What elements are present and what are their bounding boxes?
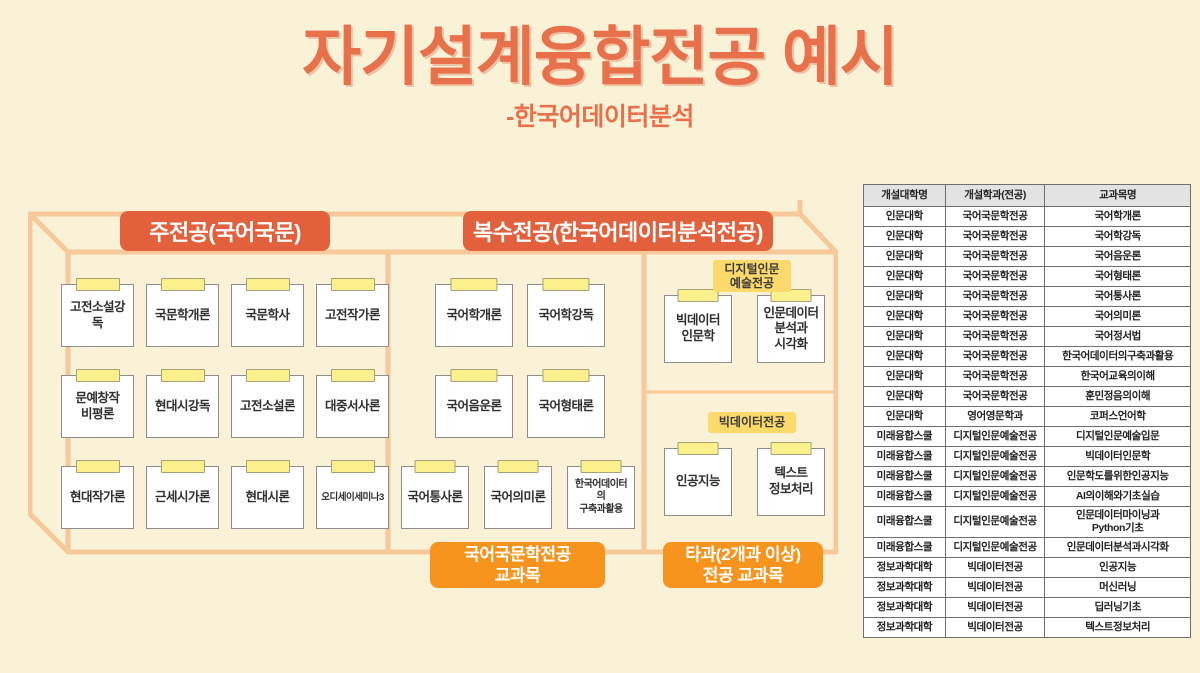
table-row: 인문대학국어국문학전공국어형태론 [864,267,1191,287]
table-cell: 인문대학 [864,347,946,367]
table-cell: 미래융합스쿨 [864,427,946,447]
card-label: 빅데이터인문학 [673,313,723,344]
table-cell: 코퍼스언어학 [1045,407,1191,427]
course-table: 개설대학명개설학과(전공)교과목명 인문대학국어국문학전공국어학개론인문대학국어… [863,184,1191,638]
card-tab-icon [245,278,289,291]
table-cell: 훈민정음의이해 [1045,387,1191,407]
course-card-korean-6[interactable]: 국어의미론 [484,466,552,529]
table-cell: 정보과학대학 [864,577,946,597]
table-cell: 국어국문학전공 [945,307,1045,327]
table-row: 정보과학대학빅데이터전공딥러닝기초 [864,597,1191,617]
card-tab-icon [330,369,374,382]
table-cell: 디지털인문예술전공 [945,427,1045,447]
card-label: 국어형태론 [535,399,596,415]
table-cell: 한국어데이터의구축과활용 [1045,347,1191,367]
card-tab-icon [160,278,204,291]
table-cell: 국어음운론 [1045,247,1191,267]
card-tab-icon [450,278,497,291]
table-col-header-3: 교과목명 [1045,185,1191,207]
card-tab-icon [245,369,289,382]
table-cell: 인문대학 [864,247,946,267]
table-cell: 빅데이터인문학 [1045,447,1191,467]
table-cell: 인문대학 [864,387,946,407]
table-cell: 머신러닝 [1045,577,1191,597]
table-row: 정보과학대학빅데이터전공인공지능 [864,557,1191,577]
table-cell: 딥러닝기초 [1045,597,1191,617]
card-tab-icon [75,460,119,473]
table-cell: 인문대학 [864,367,946,387]
course-card-korean-3[interactable]: 국어음운론 [435,375,513,438]
card-label: 현대작가론 [67,490,128,506]
course-card-main-12[interactable]: 오디세이세미나3 [316,466,389,529]
course-card-digital-1[interactable]: 빅데이터인문학 [664,295,732,363]
card-tab-icon [498,460,539,473]
section-header-double-major: 복수전공(한국어데이터분석전공) [463,211,773,251]
title-block: 자기설계융합전공 예시 -한국어데이터분석 [0,24,1200,133]
table-cell: 국어국문학전공 [945,267,1045,287]
table-cell: 인문대학 [864,287,946,307]
table-row: 정보과학대학빅데이터전공텍스트정보처리 [864,617,1191,637]
table-cell: 국어국문학전공 [945,227,1045,247]
card-tab-icon [678,442,719,455]
course-card-main-11[interactable]: 현대시론 [231,466,304,529]
card-label: 국어학개론 [443,308,504,324]
card-label: 현대시론 [242,490,292,506]
table-row: 미래융합스쿨디지털인문예술전공AI의이해와기초실습 [864,487,1191,507]
table-cell: 인문대학 [864,227,946,247]
card-label: 텍스트정보처리 [766,466,816,497]
course-card-main-5[interactable]: 문예창작비평론 [61,375,134,438]
card-tab-icon [581,460,622,473]
table-col-header-2: 개설학과(전공) [945,185,1045,207]
table-row: 인문대학국어국문학전공국어학강독 [864,227,1191,247]
course-card-main-4[interactable]: 고전작가론 [316,284,389,347]
table-row: 인문대학국어국문학전공국어학개론 [864,207,1191,227]
card-label: 고전소설론 [237,399,298,415]
card-label: 현대시강독 [152,399,213,415]
course-table-wrapper: 개설대학명개설학과(전공)교과목명 인문대학국어국문학전공국어학개론인문대학국어… [863,184,1191,638]
course-card-main-10[interactable]: 근세시가론 [146,466,219,529]
table-cell: 국어의미론 [1045,307,1191,327]
table-cell: 인문대학 [864,207,946,227]
table-row: 미래융합스쿨디지털인문예술전공인문데이터마이닝과Python기초 [864,507,1191,538]
table-cell: 정보과학대학 [864,557,946,577]
table-row: 미래융합스쿨디지털인문예술전공인문데이터분석과시각화 [864,537,1191,557]
course-card-main-3[interactable]: 국문학사 [231,284,304,347]
course-card-main-1[interactable]: 고전소설강독 [61,284,134,347]
table-cell: 인문대학 [864,327,946,347]
diagram-root: 자기설계융합전공 예시 -한국어데이터분석 주전공(국어국문) 복수전공(한국어… [0,0,1200,673]
table-cell: 국어형태론 [1045,267,1191,287]
table-cell: 미래융합스쿨 [864,487,946,507]
table-cell: 영어영문학과 [945,407,1045,427]
table-row: 인문대학국어국문학전공한국어교육의이해 [864,367,1191,387]
course-card-main-8[interactable]: 대중서사론 [316,375,389,438]
table-cell: 국어학강독 [1045,227,1191,247]
card-tab-icon [330,278,374,291]
subgroup-label-digital-humanities: 디지털인문예술전공 [713,260,791,292]
course-table-head: 개설대학명개설학과(전공)교과목명 [864,185,1191,207]
table-cell: 디지털인문예술전공 [945,487,1045,507]
course-card-korean-2[interactable]: 국어학강독 [527,284,605,347]
table-cell: 빅데이터전공 [945,557,1045,577]
table-row: 인문대학국어국문학전공한국어데이터의구축과활용 [864,347,1191,367]
table-cell: 미래융합스쿨 [864,507,946,538]
card-tab-icon [75,369,119,382]
card-tab-icon [678,289,719,302]
table-row: 인문대학국어국문학전공국어통사론 [864,287,1191,307]
card-tab-icon [542,278,589,291]
card-label: 고전소설강독 [62,300,133,331]
table-cell: 인문대학 [864,307,946,327]
table-col-header-1: 개설대학명 [864,185,946,207]
card-label: 고전작가론 [322,308,383,324]
table-cell: 인문대학 [864,267,946,287]
footer-label-other-major: 타과(2개과 이상)전공 교과목 [663,542,823,588]
subgroup-label-bigdata: 빅데이터전공 [708,412,796,433]
card-label: 국어음운론 [443,399,504,415]
table-cell: AI의이해와기초실습 [1045,487,1191,507]
table-cell: 국어국문학전공 [945,247,1045,267]
table-cell: 국어국문학전공 [945,387,1045,407]
table-cell: 국어국문학전공 [945,347,1045,367]
card-label: 국문학개론 [152,308,213,324]
page-subtitle: -한국어데이터분석 [0,97,1200,133]
card-label: 인공지능 [673,474,723,490]
card-tab-icon [415,460,456,473]
course-card-bigdata-2[interactable]: 텍스트정보처리 [757,448,825,516]
table-cell: 빅데이터전공 [945,577,1045,597]
card-label: 대중서사론 [322,399,383,415]
card-label: 문예창작비평론 [72,391,122,422]
footer-label-korean-major: 국어국문학전공교과목 [430,542,605,588]
table-cell: 디지털인문예술전공 [945,467,1045,487]
course-card-korean-7[interactable]: 한국어데이터의구축과활용 [567,466,635,529]
table-cell: 국어학개론 [1045,207,1191,227]
table-cell: 인문학도를위한인공지능 [1045,467,1191,487]
table-cell: 국어국문학전공 [945,207,1045,227]
section-header-main-major: 주전공(국어국문) [120,211,330,251]
course-table-body: 인문대학국어국문학전공국어학개론인문대학국어국문학전공국어학강독인문대학국어국문… [864,207,1191,638]
table-row: 인문대학국어국문학전공국어의미론 [864,307,1191,327]
table-cell: 한국어교육의이해 [1045,367,1191,387]
card-label: 인문데이터분석과시각화 [760,306,821,353]
course-card-korean-4[interactable]: 국어형태론 [527,375,605,438]
card-label: 국문학사 [242,308,292,324]
table-cell: 정보과학대학 [864,617,946,637]
course-card-main-7[interactable]: 고전소설론 [231,375,304,438]
table-cell: 인공지능 [1045,557,1191,577]
course-card-main-6[interactable]: 현대시강독 [146,375,219,438]
table-cell: 국어국문학전공 [945,367,1045,387]
table-cell: 텍스트정보처리 [1045,617,1191,637]
table-cell: 디지털인문예술입문 [1045,427,1191,447]
card-label: 국어통사론 [404,490,465,506]
table-cell: 국어통사론 [1045,287,1191,307]
table-row: 인문대학국어국문학전공국어음운론 [864,247,1191,267]
card-label: 국어의미론 [487,490,548,506]
page-title: 자기설계융합전공 예시 [0,24,1200,91]
card-tab-icon [542,369,589,382]
table-row: 미래융합스쿨디지털인문예술전공인문학도를위한인공지능 [864,467,1191,487]
table-cell: 국어국문학전공 [945,327,1045,347]
course-card-korean-1[interactable]: 국어학개론 [435,284,513,347]
course-card-korean-5[interactable]: 국어통사론 [401,466,469,529]
table-cell: 디지털인문예술전공 [945,537,1045,557]
table-cell: 인문데이터마이닝과Python기초 [1045,507,1191,538]
table-row: 인문대학영어영문학과코퍼스언어학 [864,407,1191,427]
card-tab-icon [160,369,204,382]
course-card-main-2[interactable]: 국문학개론 [146,284,219,347]
card-tab-icon [75,278,119,291]
course-card-digital-2[interactable]: 인문데이터분석과시각화 [757,295,825,363]
table-row: 미래융합스쿨디지털인문예술전공빅데이터인문학 [864,447,1191,467]
table-cell: 미래융합스쿨 [864,467,946,487]
table-cell: 정보과학대학 [864,597,946,617]
table-row: 인문대학국어국문학전공훈민정음의이해 [864,387,1191,407]
table-row: 정보과학대학빅데이터전공머신러닝 [864,577,1191,597]
card-tab-icon [771,442,812,455]
card-tab-icon [450,369,497,382]
card-label: 오디세이세미나3 [318,492,386,504]
table-cell: 미래융합스쿨 [864,537,946,557]
table-cell: 인문대학 [864,407,946,427]
card-label: 국어학강독 [535,308,596,324]
table-cell: 미래융합스쿨 [864,447,946,467]
table-cell: 빅데이터전공 [945,597,1045,617]
card-tab-icon [330,460,374,473]
table-cell: 국어정서법 [1045,327,1191,347]
card-label: 근세시가론 [152,490,213,506]
table-row: 미래융합스쿨디지털인문예술전공디지털인문예술입문 [864,427,1191,447]
course-card-main-9[interactable]: 현대작가론 [61,466,134,529]
table-cell: 디지털인문예술전공 [945,447,1045,467]
table-header-row: 개설대학명개설학과(전공)교과목명 [864,185,1191,207]
table-cell: 빅데이터전공 [945,617,1045,637]
table-cell: 국어국문학전공 [945,287,1045,307]
table-row: 인문대학국어국문학전공국어정서법 [864,327,1191,347]
table-cell: 인문데이터분석과시각화 [1045,537,1191,557]
card-tab-icon [245,460,289,473]
table-cell: 디지털인문예술전공 [945,507,1045,538]
card-label: 한국어데이터의구축과활용 [568,479,634,517]
card-tab-icon [160,460,204,473]
course-card-bigdata-1[interactable]: 인공지능 [664,448,732,516]
